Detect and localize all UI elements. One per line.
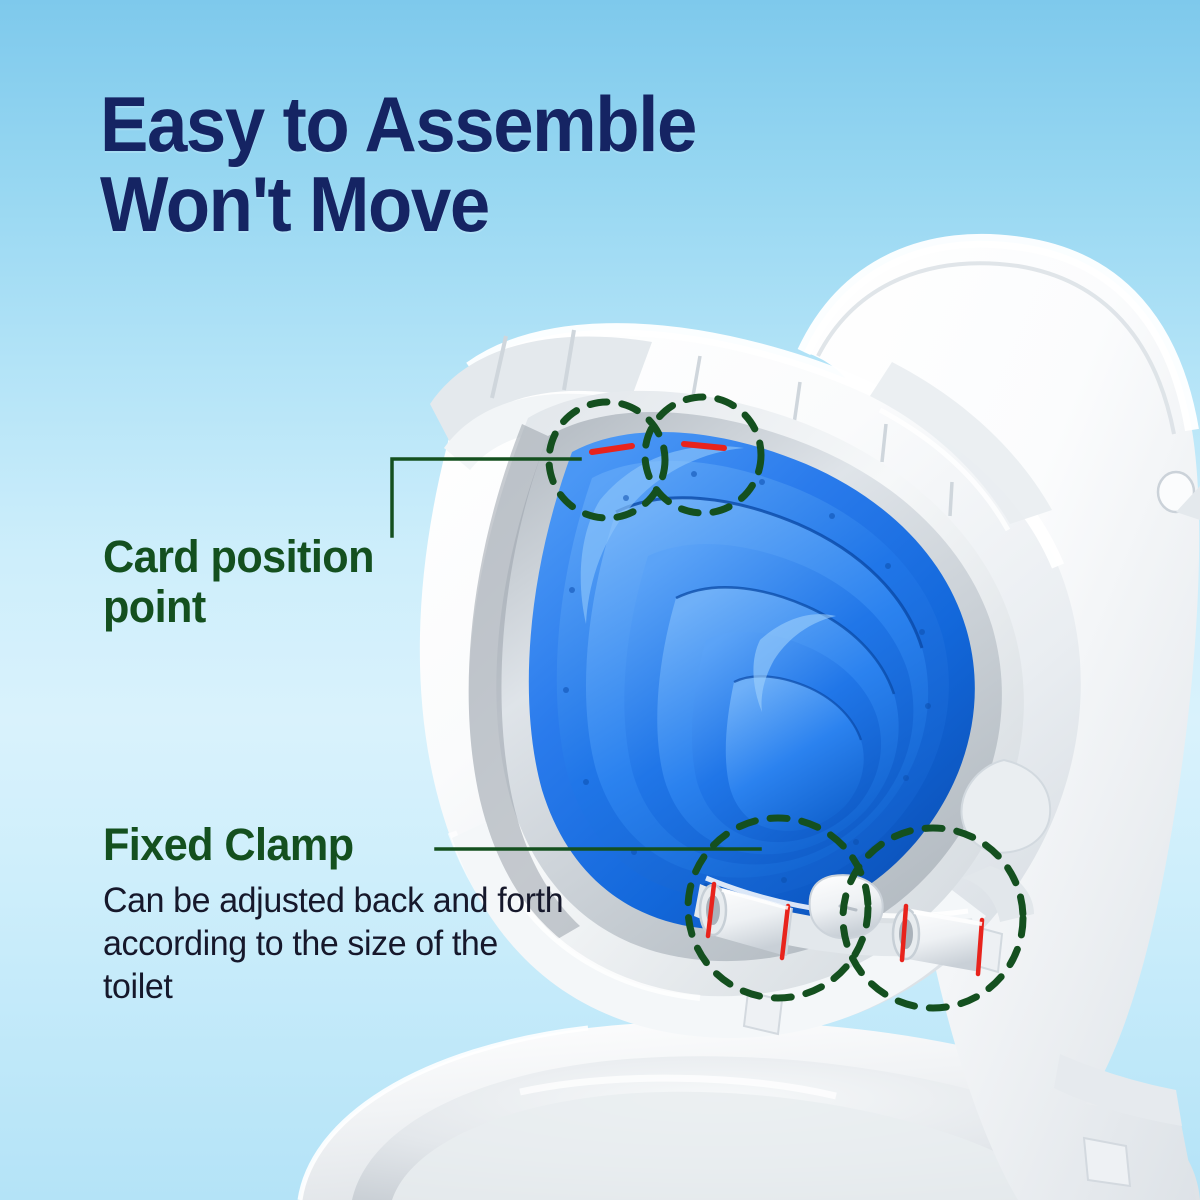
- callout-fixed-clamp-title: Fixed Clamp: [103, 820, 564, 870]
- callout-card-position-point: Card position point: [103, 532, 503, 633]
- rim-mark-right: [684, 444, 724, 448]
- callout-card-position-title: Card position point: [103, 532, 487, 633]
- callout-fixed-clamp: Fixed Clamp Can be adjusted back and for…: [103, 820, 583, 1008]
- infographic-canvas: Easy to Assemble Won't Move Card positio…: [0, 0, 1200, 1200]
- callout-fixed-clamp-body: Can be adjusted back and forth according…: [103, 880, 569, 1008]
